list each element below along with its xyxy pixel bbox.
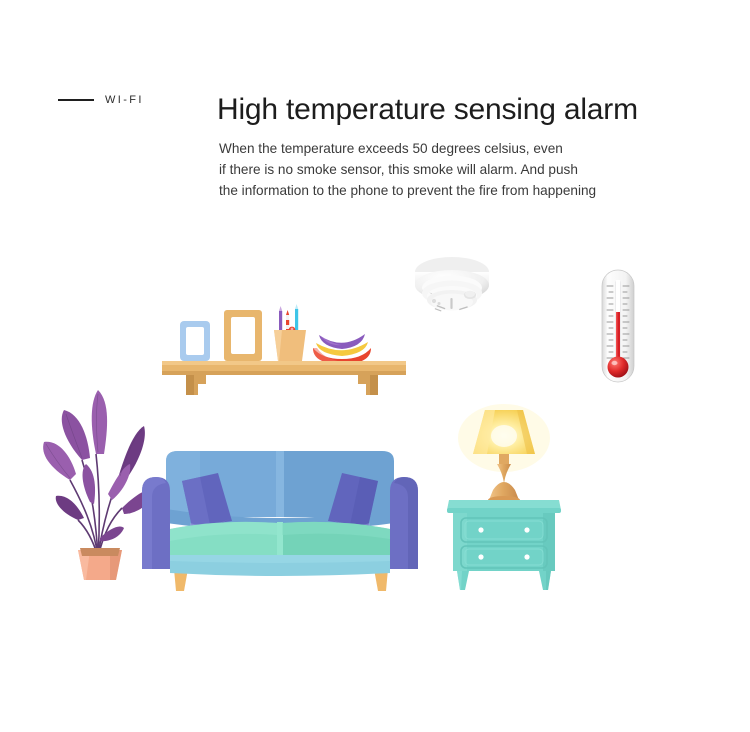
stacked-bowls — [313, 334, 371, 364]
sofa — [130, 443, 430, 608]
marketing-banner: WI-FI High temperature sensing alarm Whe… — [0, 0, 750, 732]
smoke-detector — [404, 252, 500, 324]
photo-frame-tan — [224, 310, 262, 361]
bedside-table-with-lamp — [443, 402, 565, 592]
living-room-illustration — [0, 0, 750, 732]
wall-shelf — [162, 298, 406, 400]
wall-thermometer — [596, 268, 640, 384]
pencil-cup — [274, 304, 306, 361]
photo-frame-blue — [180, 321, 210, 361]
